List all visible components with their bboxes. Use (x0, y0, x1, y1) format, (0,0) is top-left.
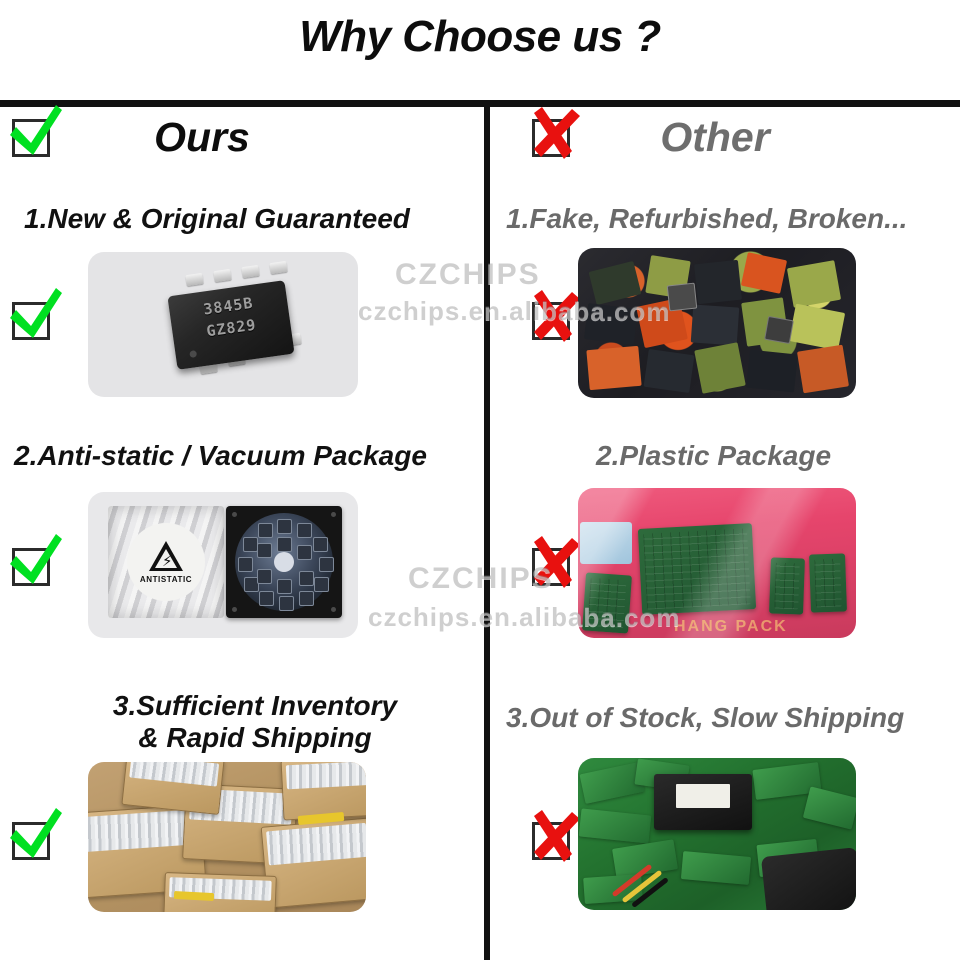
black-module (654, 774, 752, 830)
check-icon (4, 282, 66, 348)
chip-pin (241, 265, 259, 278)
ours-row-2-text: 2.Anti-static / Vacuum Package (14, 440, 474, 472)
pcb-board (769, 557, 805, 614)
pcb-board (638, 523, 756, 615)
check-icon (4, 528, 66, 594)
antistatic-bag: ⚡ ANTISTATIC (108, 506, 224, 618)
reel-hub (274, 552, 294, 572)
green-pcb (681, 851, 751, 885)
check-icon-header (8, 113, 54, 159)
plastic-wrap-corner (580, 522, 632, 564)
green-pcb (579, 808, 652, 843)
antistatic-text: ANTISTATIC (140, 575, 192, 584)
scrap-piece (589, 261, 642, 305)
cross-icon (524, 99, 586, 165)
check-icon-row-2 (8, 542, 54, 588)
ours-row-3-line-2: & Rapid Shipping (60, 722, 450, 754)
ours-row-3-text: 3.Sufficient Inventory & Rapid Shipping (60, 690, 450, 755)
carton-box (121, 762, 224, 815)
chip-marking: 3845B GZ829 (169, 288, 292, 347)
chip-photo-inner: 3845B GZ829 (88, 252, 358, 397)
photo-new-original-chip: 3845B GZ829 (88, 252, 358, 397)
column-header-ours-label: Ours (0, 106, 444, 168)
other-row-2-text: 2.Plastic Package (596, 440, 956, 472)
bag-photo-inner: ⚡ ANTISTATIC (88, 492, 358, 638)
antistatic-bags-stack (286, 762, 366, 790)
chip-pin (269, 261, 287, 274)
cross-icon (524, 802, 586, 868)
boxes-photo-inner (88, 762, 366, 912)
scrap-piece (694, 260, 742, 304)
carton-box (261, 817, 366, 908)
pcb-board (809, 553, 847, 612)
why-choose-us-infographic: Why Choose us ? Ours Other 1.New & Origi… (0, 0, 960, 960)
ours-row-1-text: 1.New & Original Guaranteed (24, 203, 474, 235)
cross-icon-row-1 (528, 296, 574, 342)
reel-screw (232, 512, 237, 517)
component-reel (226, 506, 342, 618)
scrap-piece (789, 304, 845, 351)
page-title: Why Choose us ? (0, 12, 960, 62)
green-pcb (803, 786, 856, 829)
antistatic-bags-stack (129, 762, 219, 786)
check-icon-row-1 (8, 296, 54, 342)
scrap-photo-inner (578, 248, 856, 398)
scrap-piece (584, 303, 638, 345)
ours-row-3-line-1: 3.Sufficient Inventory (60, 690, 450, 722)
black-enclosure (761, 847, 856, 910)
scrap-piece (694, 342, 746, 394)
reel-screw (331, 512, 336, 517)
cross-icon (524, 282, 586, 348)
photo-plastic-package: HANG PACK (578, 488, 856, 638)
chip-pin (185, 273, 203, 286)
cross-icon (524, 528, 586, 594)
pcb-board (582, 572, 632, 633)
scrap-die (667, 283, 698, 312)
chip-body: 3845B GZ829 (167, 280, 294, 370)
check-icon (4, 99, 66, 165)
scrap-piece (741, 252, 787, 294)
column-divider (484, 104, 490, 960)
plastic-overlay-text: HANG PACK (674, 618, 788, 636)
chip-pin1-dot (189, 350, 197, 358)
reel-disc (235, 513, 333, 611)
photo-out-of-stock-pile (578, 758, 856, 910)
esd-warning-icon: ⚡ (149, 541, 183, 571)
column-header-ours: Ours (0, 104, 484, 176)
plastic-photo-inner: HANG PACK (578, 488, 856, 638)
reel-screw (232, 607, 237, 612)
photo-antistatic-vacuum-package: ⚡ ANTISTATIC (88, 492, 358, 638)
check-icon (4, 802, 66, 868)
photo-fake-broken-chips (578, 248, 856, 398)
antistatic-label-circle: ⚡ ANTISTATIC (127, 523, 205, 601)
lightning-bolt-icon: ⚡ (162, 554, 173, 569)
cross-icon-row-2 (528, 542, 574, 588)
scrap-die (764, 316, 794, 344)
other-row-1-text: 1.Fake, Refurbished, Broken... (506, 203, 956, 235)
carton-box (280, 762, 366, 821)
module-label (676, 784, 731, 808)
greenpile-photo-inner (578, 758, 856, 910)
cross-icon-row-3 (528, 816, 574, 862)
watermark-brand-top: CZCHIPS (395, 258, 541, 292)
photo-inventory-boxes (88, 762, 366, 912)
scrap-piece (787, 260, 841, 308)
scrap-piece (644, 349, 695, 393)
antistatic-bags-stack (266, 823, 366, 865)
scrap-piece (691, 304, 740, 345)
other-row-3-text: 3.Out of Stock, Slow Shipping (506, 702, 958, 734)
scrap-piece (746, 350, 798, 393)
scrap-piece (586, 346, 641, 390)
chip-pin (213, 269, 231, 282)
cross-icon-header (528, 113, 574, 159)
check-icon-row-3 (8, 816, 54, 862)
reel-screw (331, 607, 336, 612)
scrap-piece (797, 345, 849, 394)
